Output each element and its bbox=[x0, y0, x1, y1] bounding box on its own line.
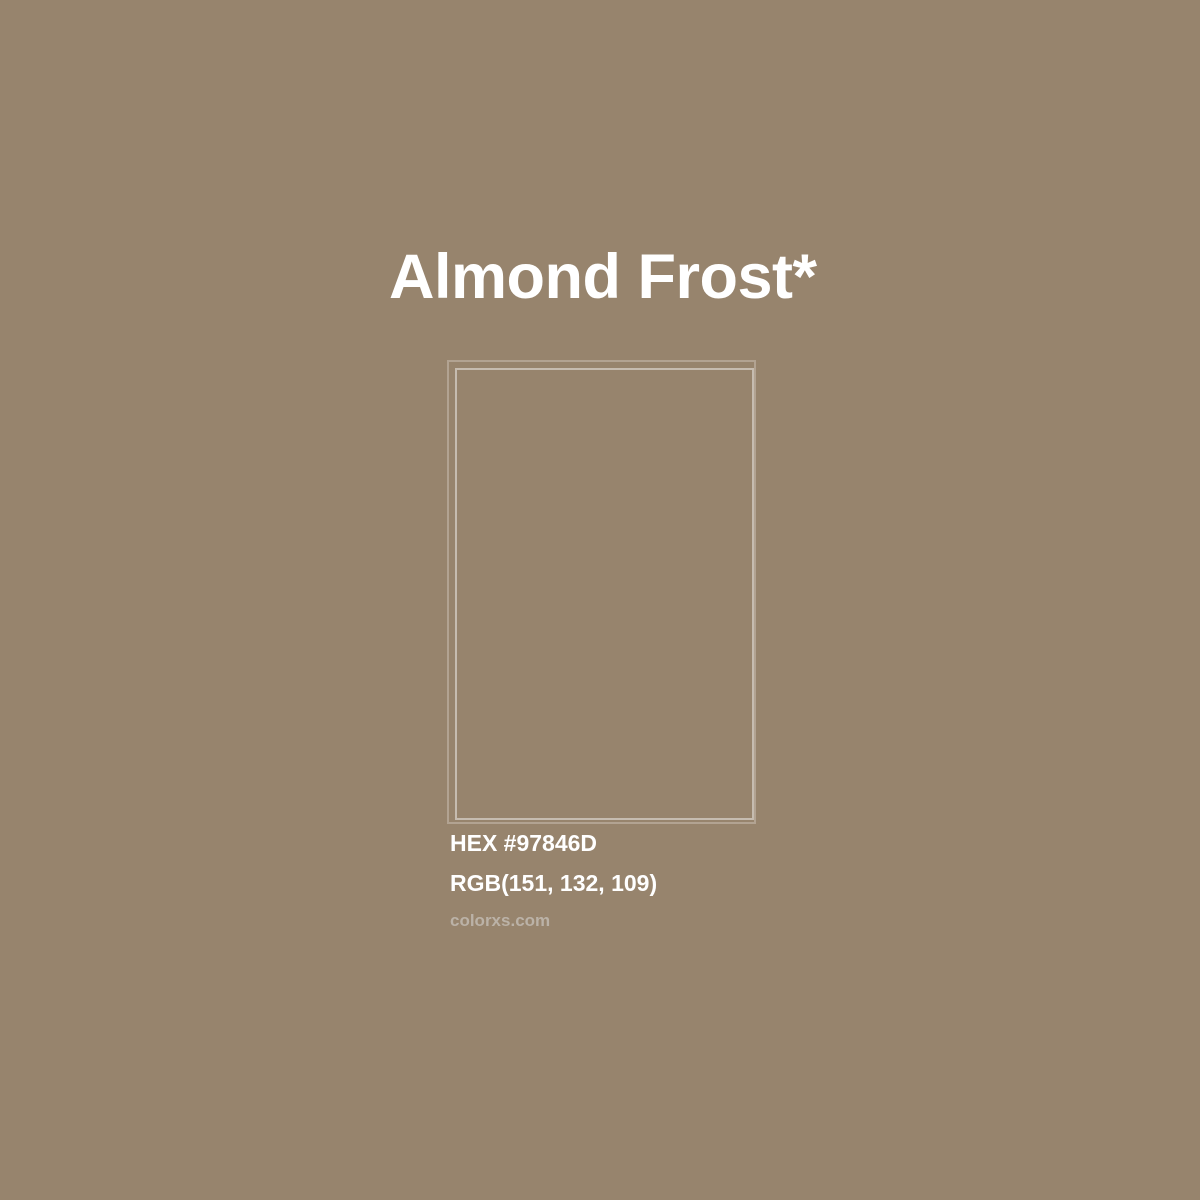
source-website-label: colorxs.com bbox=[450, 912, 1050, 929]
swatch-color-fill bbox=[457, 370, 752, 818]
hex-value-label: HEX #97846D bbox=[450, 832, 1050, 855]
color-swatch-page: Almond Frost* HEX #97846D RGB(151, 132, … bbox=[0, 0, 1200, 1200]
rgb-value-label: RGB(151, 132, 109) bbox=[450, 872, 1050, 895]
color-swatch bbox=[447, 358, 762, 828]
color-info-block: HEX #97846D RGB(151, 132, 109) colorxs.c… bbox=[450, 832, 1050, 929]
page-title: Almond Frost* bbox=[389, 246, 817, 309]
